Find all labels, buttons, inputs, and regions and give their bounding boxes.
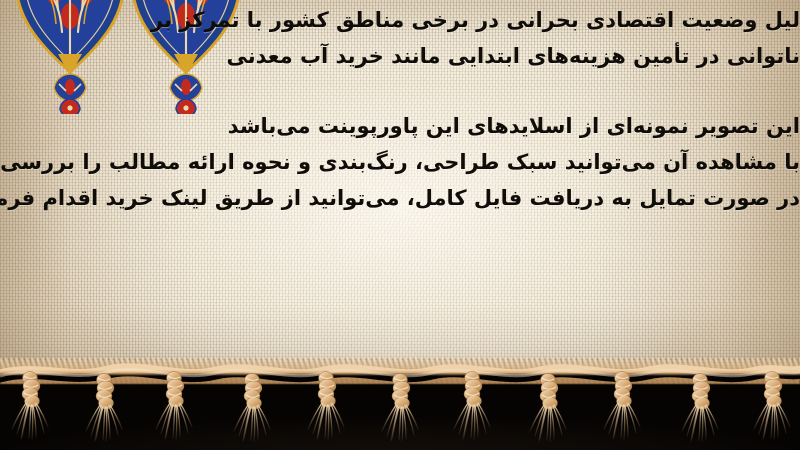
- paragraph-body: این تصویر نمونه‌ای از اسلایدهای این پاور…: [0, 108, 800, 216]
- text-line-2: ناتوانی در تأمین هزینه‌های ابتدایی مانند…: [0, 38, 800, 74]
- carpet-tassel-fringe-icon: [0, 362, 800, 450]
- text-line-3: این تصویر نمونه‌ای از اسلایدهای این پاور…: [0, 108, 800, 144]
- text-line-4: با مشاهده آن می‌توانید سبک طراحی، رنگ‌بن…: [0, 144, 800, 180]
- slide-canvas: لیل وضعیت اقتصادی بحرانی در برخی مناطق ک…: [0, 0, 800, 450]
- text-line-1: لیل وضعیت اقتصادی بحرانی در برخی مناطق ک…: [0, 2, 800, 38]
- text-line-5: در صورت تمایل به دریافت فایل کامل، می‌تو…: [0, 180, 800, 216]
- paragraph-top: لیل وضعیت اقتصادی بحرانی در برخی مناطق ک…: [0, 2, 800, 74]
